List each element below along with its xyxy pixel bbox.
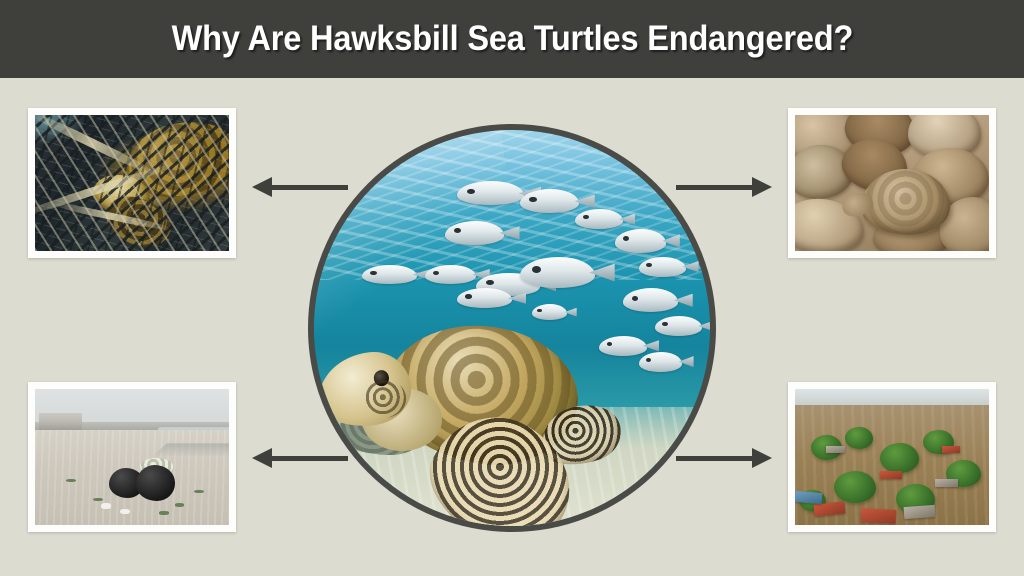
underwater-scene xyxy=(314,130,710,526)
garbage-bag xyxy=(136,465,175,500)
fish xyxy=(520,257,595,289)
arrowhead-left-icon xyxy=(252,448,272,468)
fishing-net-mesh xyxy=(35,115,229,251)
fish xyxy=(639,257,687,277)
fish xyxy=(457,181,524,205)
threat-photo-beach-pollution[interactable] xyxy=(28,382,236,532)
rooftop xyxy=(935,479,958,487)
threat-photo-climate-change-flooding[interactable] xyxy=(788,382,996,532)
fish xyxy=(655,316,703,336)
horizon-sky xyxy=(795,389,989,407)
photo-pile-of-turtle-shells xyxy=(795,115,989,251)
fish xyxy=(575,209,623,229)
tree xyxy=(834,471,877,504)
rooftop xyxy=(826,446,845,453)
bottle-litter xyxy=(175,503,185,506)
page-title: Why Are Hawksbill Sea Turtles Endangered… xyxy=(171,19,853,59)
fish xyxy=(445,221,504,245)
paper-litter xyxy=(120,509,130,514)
header-banner: Why Are Hawksbill Sea Turtles Endangered… xyxy=(0,0,1024,78)
arrowhead-right-icon xyxy=(752,448,772,468)
tree xyxy=(880,443,919,473)
tree xyxy=(845,427,872,449)
bottle-litter xyxy=(93,498,103,501)
fish xyxy=(520,189,579,213)
sea-turtle xyxy=(308,304,615,526)
rooftop xyxy=(903,505,935,519)
threat-photo-illegal-shell-trade[interactable] xyxy=(788,108,996,258)
arrowhead-right-icon xyxy=(752,177,772,197)
photo-flooded-village xyxy=(795,389,989,525)
fish xyxy=(615,229,666,253)
bottle-litter xyxy=(159,511,169,514)
fish xyxy=(623,288,678,312)
infographic-canvas: Why Are Hawksbill Sea Turtles Endangered… xyxy=(0,0,1024,576)
bottle-litter xyxy=(66,479,76,482)
rooftop xyxy=(861,508,897,523)
fish xyxy=(362,265,417,285)
center-circle-image[interactable] xyxy=(308,124,716,532)
arrowhead-left-icon xyxy=(252,177,272,197)
paper-litter xyxy=(101,503,111,508)
fish xyxy=(639,352,683,372)
threat-photo-bycatch-entanglement[interactable] xyxy=(28,108,236,258)
photo-polluted-beach xyxy=(35,389,229,525)
rooftop xyxy=(942,446,959,453)
shell-foreground xyxy=(861,169,950,234)
bottle-litter xyxy=(194,490,204,493)
rooftop xyxy=(880,471,901,479)
fish xyxy=(425,265,476,285)
photo-turtle-in-fishing-net xyxy=(35,115,229,251)
